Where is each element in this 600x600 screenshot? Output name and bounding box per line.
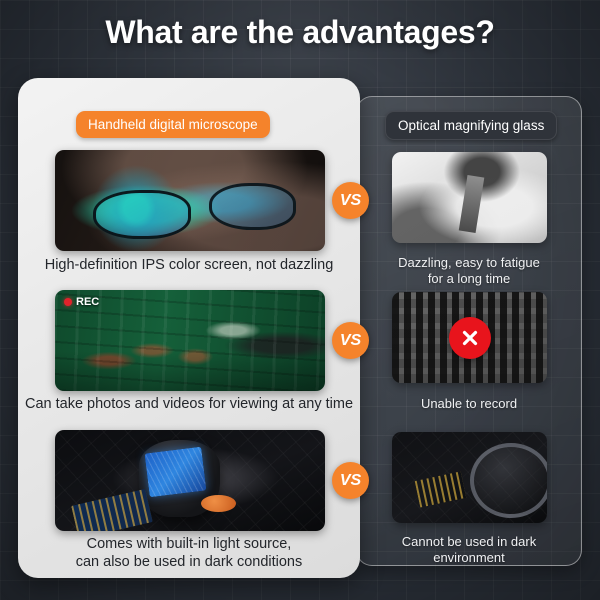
left-row-2-caption-line1: Can take photos and videos for viewing a… bbox=[20, 396, 358, 414]
right-row-2-caption: Unable to record bbox=[360, 396, 578, 412]
vs-badge-row-2: VS bbox=[332, 322, 369, 359]
left-row-2-image: REC bbox=[55, 290, 325, 391]
right-row-3-caption-line2: environment bbox=[360, 550, 578, 566]
right-row-1-caption: Dazzling, easy to fatigue for a long tim… bbox=[360, 255, 578, 287]
glasses-screen-reflection-photo bbox=[55, 150, 325, 251]
rec-indicator: REC bbox=[64, 296, 99, 308]
right-row-3-caption: Cannot be used in dark environment bbox=[360, 534, 578, 566]
man-tired-at-microscope-photo bbox=[392, 152, 547, 243]
left-row-2-caption: Can take photos and videos for viewing a… bbox=[20, 396, 358, 414]
magnifier-over-board-dark-photo bbox=[392, 432, 547, 523]
left-row-3-caption-line1: Comes with built-in light source, bbox=[20, 536, 358, 554]
left-row-1-caption: High-definition IPS color screen, not da… bbox=[20, 257, 358, 275]
x-mark-icon bbox=[449, 317, 491, 359]
right-row-1-image bbox=[392, 152, 547, 243]
left-row-1-caption-line1: High-definition IPS color screen, not da… bbox=[20, 257, 358, 275]
rec-label: REC bbox=[76, 296, 99, 308]
right-row-3-image bbox=[392, 432, 547, 523]
vs-badge-row-3: VS bbox=[332, 462, 369, 499]
device-shutter-button-icon bbox=[201, 495, 236, 512]
rec-dot-icon bbox=[64, 298, 72, 306]
right-row-2-image bbox=[392, 292, 547, 383]
right-row-3-caption-line1: Cannot be used in dark bbox=[360, 534, 578, 550]
left-row-3-caption-line2: can also be used in dark conditions bbox=[20, 554, 358, 572]
badge-handheld-digital-microscope: Handheld digital microscope bbox=[76, 111, 270, 138]
left-row-3-caption: Comes with built-in light source, can al… bbox=[20, 536, 358, 571]
right-row-2-caption-line1: Unable to record bbox=[360, 396, 578, 412]
left-row-1-image bbox=[55, 150, 325, 251]
right-row-1-caption-line1: Dazzling, easy to fatigue bbox=[360, 255, 578, 271]
left-row-3-image bbox=[55, 430, 325, 531]
vs-badge-row-1: VS bbox=[332, 182, 369, 219]
right-row-1-caption-line2: for a long time bbox=[360, 271, 578, 287]
page-title: What are the advantages? bbox=[0, 14, 600, 51]
badge-optical-magnifying-glass: Optical magnifying glass bbox=[385, 111, 557, 140]
